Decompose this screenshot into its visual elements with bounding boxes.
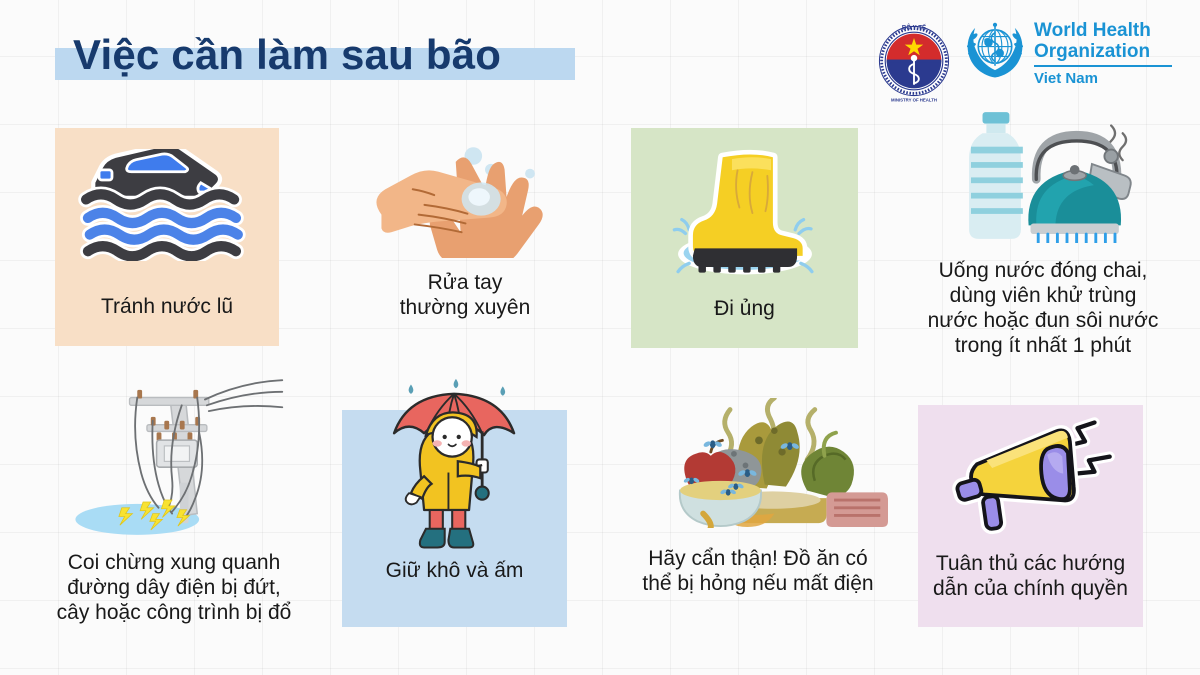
page-title-block: Việc cần làm sau bão [55, 20, 695, 95]
logo-group: BỘ Y TẾ MINISTRY OF HEALTH [878, 16, 1172, 112]
card-safe-drinking-water: Uống nước đóng chai, dùng viên khử trùng… [898, 108, 1188, 348]
moh-bottom-text: MINISTRY OF HEALTH [891, 97, 937, 102]
card-caption: Tránh nước lũ [55, 294, 279, 319]
infographic-canvas: Việc cần làm sau bão BỘ Y TẾ MINISTRY OF… [0, 0, 1200, 675]
spoiled-food-with-flies-icon [612, 398, 904, 528]
who-wordmark: World Health Organization Viet Nam [1034, 16, 1172, 87]
who-country-label: Viet Nam [1034, 71, 1172, 87]
child-with-umbrella-raincoat-icon [342, 378, 567, 553]
rubber-boot-in-puddle-icon [631, 144, 858, 284]
card-avoid-floodwater: Tránh nước lũ [55, 128, 279, 346]
who-emblem-icon [964, 18, 1026, 80]
card-follow-authorities: Tuân thủ các hướng dẫn của chính quyền [918, 405, 1143, 627]
card-caption: Tuân thủ các hướng dẫn của chính quyền [918, 551, 1143, 601]
card-caption: Uống nước đóng chai, dùng viên khử trùng… [898, 258, 1188, 358]
card-wear-boots: Đi ủng [631, 128, 858, 348]
megaphone-announcement-icon [918, 413, 1143, 541]
who-logo: World Health Organization Viet Nam [964, 16, 1172, 87]
who-line-1: World Health [1034, 20, 1172, 41]
who-line-2: Organization [1034, 41, 1172, 62]
card-caption: Hãy cẩn thận! Đồ ăn có thể bị hỏng nếu m… [612, 546, 904, 596]
card-beware-downed-powerlines: Coi chừng xung quanh đường dây điện bị đ… [24, 378, 324, 638]
card-stay-dry-and-warm: Giữ khô và ấm [342, 410, 567, 627]
car-in-floodwater-icon [55, 142, 279, 267]
page-title: Việc cần làm sau bão [73, 20, 501, 90]
card-caption: Đi ủng [631, 296, 858, 321]
moh-top-text: BỘ Y TẾ [902, 23, 926, 31]
vietnam-ministry-of-health-logo: BỘ Y TẾ MINISTRY OF HEALTH [878, 16, 950, 106]
washing-hands-icon [340, 140, 590, 258]
who-divider [1034, 65, 1172, 67]
downed-power-line-icon [24, 378, 324, 538]
card-wash-hands: Rửa tay thường xuyên [340, 140, 590, 340]
card-caption: Rửa tay thường xuyên [340, 270, 590, 320]
card-caption: Coi chừng xung quanh đường dây điện bị đ… [24, 550, 324, 625]
card-caption: Giữ khô và ấm [342, 558, 567, 583]
card-food-spoilage-warning: Hãy cẩn thận! Đồ ăn có thể bị hỏng nếu m… [612, 398, 904, 618]
bottled-water-and-boiling-kettle-icon [898, 108, 1188, 243]
